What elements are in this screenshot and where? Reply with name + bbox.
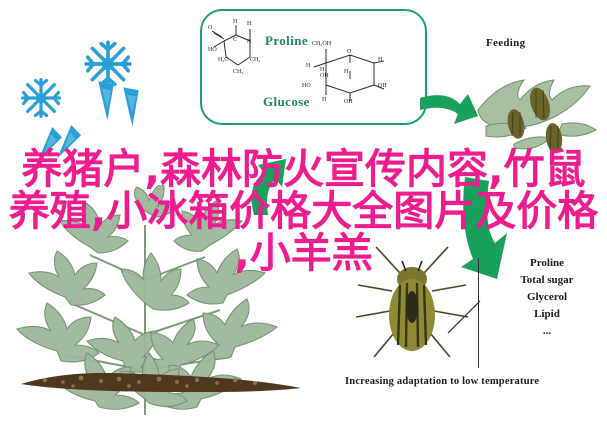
leaf-with-beetles-illustration bbox=[470, 58, 605, 158]
svg-text:CH₂: CH₂ bbox=[233, 69, 243, 75]
svg-text:O: O bbox=[347, 49, 352, 55]
svg-text:H: H bbox=[378, 57, 383, 63]
svg-text:CH₂OH: CH₂OH bbox=[312, 41, 332, 47]
metabolite-box: HOO HH CN H₂CCH₂ CH₂ CH₂OHO HH HH HOOH O… bbox=[200, 9, 427, 125]
watermark-line-2: 养殖,小冰箱价格大全图片及价格 bbox=[0, 190, 607, 232]
svg-text:H: H bbox=[306, 63, 311, 69]
svg-text:O: O bbox=[208, 25, 213, 31]
watermark-line-1: 养猪户,森林防火宣传内容,竹鼠 bbox=[0, 148, 607, 190]
svg-text:HO: HO bbox=[302, 83, 311, 89]
svg-text:H: H bbox=[344, 69, 349, 75]
proline-label: Proline bbox=[265, 33, 308, 49]
svg-text:H: H bbox=[322, 97, 327, 103]
svg-text:C: C bbox=[233, 37, 237, 43]
compound-item: ... bbox=[497, 323, 597, 340]
svg-text:HO: HO bbox=[208, 47, 217, 53]
svg-text:N: N bbox=[247, 39, 252, 45]
svg-text:OH: OH bbox=[344, 99, 353, 105]
leader-line bbox=[447, 300, 481, 334]
snowflake-icon bbox=[18, 75, 64, 128]
svg-text:H: H bbox=[247, 21, 252, 27]
svg-text:CH₂: CH₂ bbox=[250, 57, 260, 63]
watermark-line-3: ,小羊羔 bbox=[0, 232, 607, 274]
figure-caption: Increasing adaptation to low temperature bbox=[345, 376, 539, 387]
compound-item: Lipid bbox=[497, 306, 597, 323]
svg-text:H₂C: H₂C bbox=[218, 57, 228, 63]
svg-text:OH: OH bbox=[378, 83, 387, 89]
feeding-label: Feeding bbox=[486, 37, 525, 49]
ice-shard-icon bbox=[95, 80, 117, 127]
svg-text:OH: OH bbox=[320, 73, 329, 79]
ice-shard-icon bbox=[120, 86, 142, 133]
glucose-label: Glucose bbox=[263, 94, 310, 110]
compound-item: Total sugar bbox=[497, 272, 597, 289]
soil-illustration bbox=[15, 368, 305, 390]
watermark-text: 养猪户,森林防火宣传内容,竹鼠 养殖,小冰箱价格大全图片及价格 ,小羊羔 bbox=[0, 148, 607, 274]
svg-text:H: H bbox=[233, 19, 238, 25]
figure-canvas: HOO HH CN H₂CCH₂ CH₂ CH₂OHO HH HH HOOH O… bbox=[0, 0, 607, 421]
compound-item: Glycerol bbox=[497, 289, 597, 306]
